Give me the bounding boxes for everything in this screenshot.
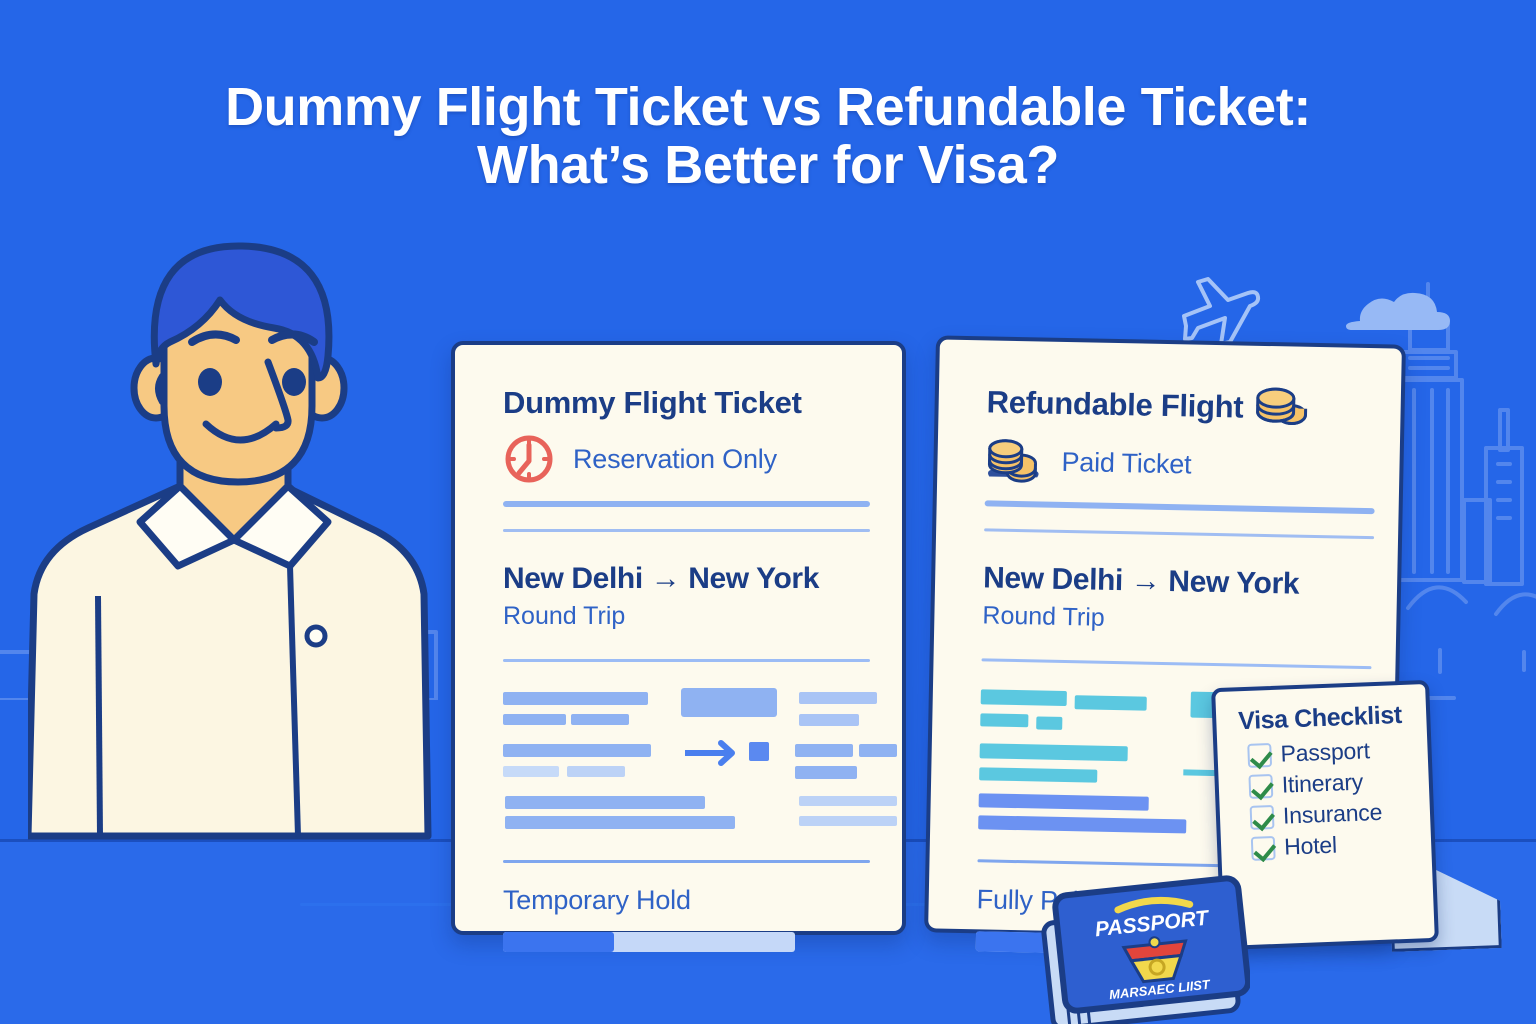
dummy-ticket-card[interactable]: Dummy Flight Ticket Reservation Only New…: [451, 341, 906, 935]
divider-mid: [982, 658, 1372, 669]
checklist-title: Visa Checklist: [1238, 700, 1427, 736]
coin-stack-icon: [985, 436, 1044, 485]
divider-mid: [503, 659, 870, 662]
checkbox-checked-icon[interactable]: [1250, 804, 1275, 829]
dummy-card-trip: Round Trip: [503, 602, 870, 631]
checklist-item-insurance[interactable]: Insurance: [1250, 797, 1431, 831]
checklist-item-label: Insurance: [1282, 799, 1382, 830]
poster-canvas: Dummy Flight Ticket vs Refundable Ticket…: [0, 0, 1536, 1024]
checklist-item-hotel[interactable]: Hotel: [1251, 828, 1432, 862]
cloud-icon: [1326, 278, 1452, 340]
dummy-progress-fill: [503, 932, 614, 952]
checklist-item-label: Itinerary: [1281, 769, 1363, 799]
divider-primary: [503, 501, 870, 507]
page-title: Dummy Flight Ticket vs Refundable Ticket…: [0, 78, 1536, 195]
checklist-item-passport[interactable]: Passport: [1247, 735, 1428, 769]
title-line-2: What’s Better for Visa?: [0, 136, 1536, 194]
checklist-item-itinerary[interactable]: Itinerary: [1248, 766, 1429, 800]
checklist-item-label: Passport: [1280, 737, 1370, 767]
checkbox-checked-icon[interactable]: [1247, 743, 1272, 768]
checkbox-checked-icon[interactable]: [1251, 835, 1276, 860]
divider-primary: [985, 500, 1375, 514]
dummy-card-title: Dummy Flight Ticket: [503, 385, 870, 421]
airplane-icon: [1176, 272, 1262, 350]
dummy-card-subtitle: Reservation Only: [573, 444, 777, 475]
dummy-card-route: New Delhi → New York: [503, 562, 870, 596]
divider-secondary: [503, 529, 870, 532]
title-line-1: Dummy Flight Ticket vs Refundable Ticket…: [225, 77, 1311, 137]
divider-secondary: [984, 528, 1374, 539]
passport-book[interactable]: PASSPORT MARSAEC LIIST: [1026, 872, 1250, 1024]
traveler-avatar: [28, 236, 448, 862]
refundable-card-route: New Delhi → New York: [983, 561, 1374, 603]
coin-stack-icon: [1253, 386, 1308, 431]
divider-lower: [503, 860, 870, 863]
dummy-card-placeholder-block: [503, 684, 870, 834]
refundable-card-title: Refundable Flight: [986, 384, 1243, 425]
arrow-right-icon: [685, 740, 747, 766]
checkbox-checked-icon[interactable]: [1248, 773, 1273, 798]
dummy-card-status: Temporary Hold: [503, 885, 870, 916]
checklist-item-label: Hotel: [1284, 832, 1338, 861]
refundable-card-trip: Round Trip: [982, 601, 1373, 638]
refundable-card-subtitle: Paid Ticket: [1061, 446, 1191, 480]
clock-icon: [503, 433, 555, 485]
checklist-items: PassportItineraryInsuranceHotel: [1217, 735, 1431, 863]
